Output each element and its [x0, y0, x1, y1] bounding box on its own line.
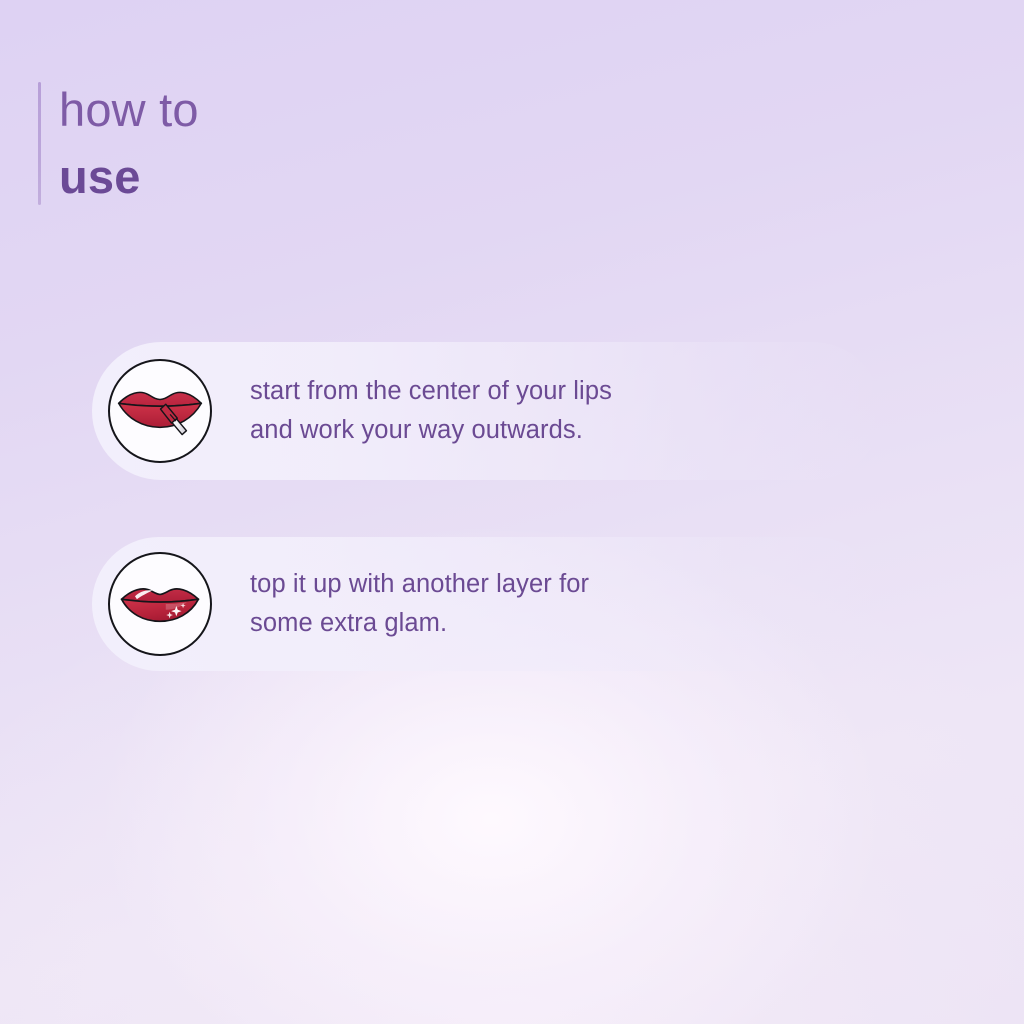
- step-card-1: start from the center of your lips and w…: [92, 342, 882, 480]
- step-text-2: top it up with another layer for some ex…: [250, 565, 589, 643]
- step-text-1: start from the center of your lips and w…: [250, 372, 612, 450]
- page-heading: how to use: [38, 82, 199, 205]
- heading-text-group: how to use: [59, 82, 199, 205]
- how-to-use-card: how to use: [0, 0, 1024, 1024]
- heading-accent-bar: [38, 82, 41, 205]
- steps-list: start from the center of your lips and w…: [92, 342, 882, 671]
- glossy-lips-with-sparkles-icon: [108, 552, 212, 656]
- lips-with-lipstick-applicator-icon: [108, 359, 212, 463]
- step-card-2: top it up with another layer for some ex…: [92, 537, 882, 671]
- heading-line-use: use: [59, 149, 199, 205]
- heading-line-how-to: how to: [59, 82, 199, 138]
